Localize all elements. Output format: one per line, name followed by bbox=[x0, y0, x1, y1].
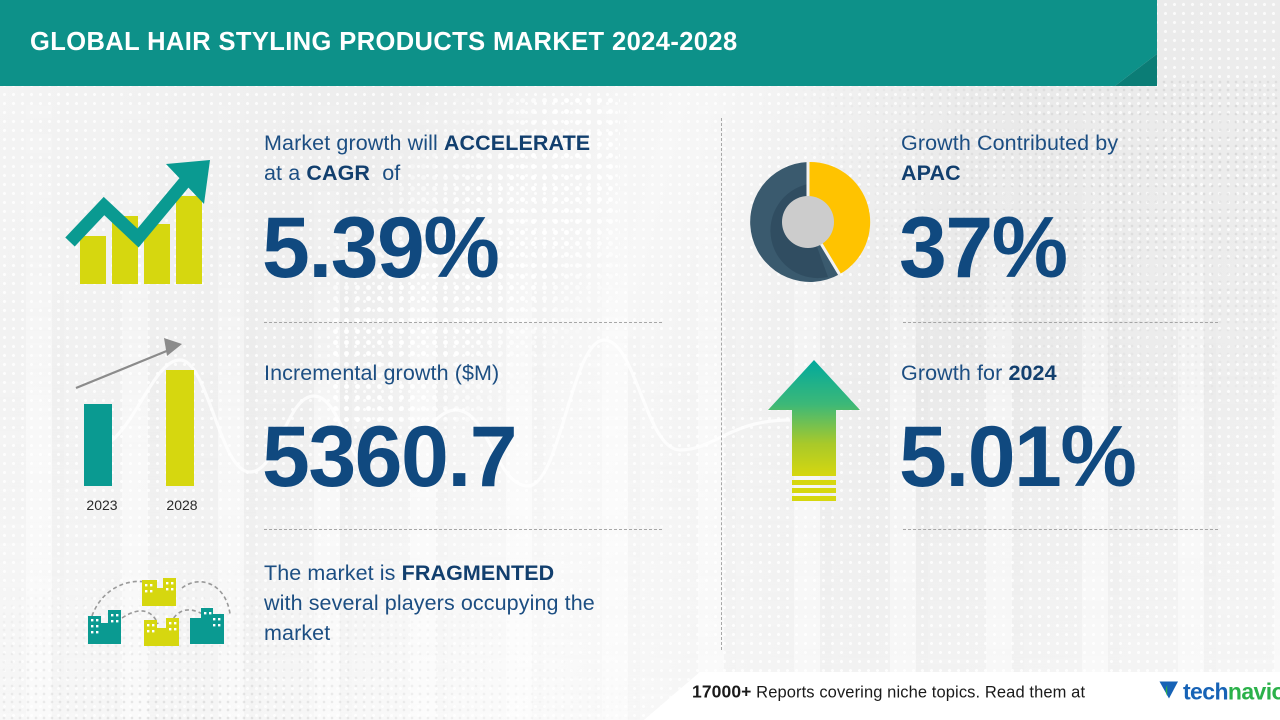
cagr-value: 5.39% bbox=[262, 205, 498, 291]
technavio-logo[interactable]: tech navio ™ bbox=[1158, 679, 1280, 706]
incremental-growth-value: 5360.7 bbox=[262, 414, 516, 500]
column-divider bbox=[721, 118, 722, 650]
fragmented-text-line1: The market is FRAGMENTED bbox=[264, 561, 554, 585]
divider-left-2 bbox=[264, 529, 662, 530]
page-title: GLOBAL HAIR STYLING PRODUCTS MARKET 2024… bbox=[30, 28, 738, 57]
incremental-growth-label: Incremental growth ($M) bbox=[264, 358, 684, 388]
footer-tagline: Reports covering niche topics. Read them… bbox=[756, 684, 1085, 702]
fragmentation-description: The market is FRAGMENTED with several pl… bbox=[264, 558, 694, 648]
fragmented-market-icon bbox=[70, 558, 245, 663]
logo-text-tech: tech bbox=[1183, 679, 1228, 706]
bar-label-2028: 2028 bbox=[152, 497, 212, 513]
donut-chart-icon bbox=[744, 158, 872, 291]
fragmented-text-line3: market bbox=[264, 621, 330, 645]
footer-text: 17000+ Reports covering niche topics. Re… bbox=[692, 682, 1085, 703]
report-count: 17000+ bbox=[692, 682, 751, 702]
growth-2024-value: 5.01% bbox=[899, 414, 1135, 500]
apac-description: Growth Contributed by APAC bbox=[901, 128, 1231, 188]
growth-2024-description: Growth for 2024 bbox=[901, 358, 1231, 388]
growth-2024-text: Growth for 2024 bbox=[901, 361, 1057, 385]
bar-comparison-icon bbox=[66, 328, 236, 503]
cagr-description: Market growth will ACCELERATE at a CAGR … bbox=[264, 128, 684, 188]
fragmented-text-line2: with several players occupying the bbox=[264, 591, 595, 615]
logo-text-navio: navio bbox=[1228, 679, 1280, 706]
divider-right-2 bbox=[903, 529, 1218, 530]
header-banner: GLOBAL HAIR STYLING PRODUCTS MARKET 2024… bbox=[0, 0, 1280, 86]
up-arrow-icon bbox=[766, 358, 862, 513]
apac-text-line1: Growth Contributed by bbox=[901, 131, 1118, 155]
apac-value: 37% bbox=[899, 205, 1067, 291]
technavio-mark-icon bbox=[1158, 679, 1180, 706]
divider-left-1 bbox=[264, 322, 662, 323]
cagr-text-line1: Market growth will ACCELERATE bbox=[264, 131, 590, 155]
bar-label-2023: 2023 bbox=[72, 497, 132, 513]
growth-chart-icon bbox=[62, 152, 222, 292]
divider-right-1 bbox=[903, 322, 1218, 323]
cagr-text-line2: at a CAGR of bbox=[264, 161, 400, 185]
apac-text-line2: APAC bbox=[901, 161, 961, 185]
infographic-canvas: GLOBAL HAIR STYLING PRODUCTS MARKET 2024… bbox=[0, 0, 1280, 720]
